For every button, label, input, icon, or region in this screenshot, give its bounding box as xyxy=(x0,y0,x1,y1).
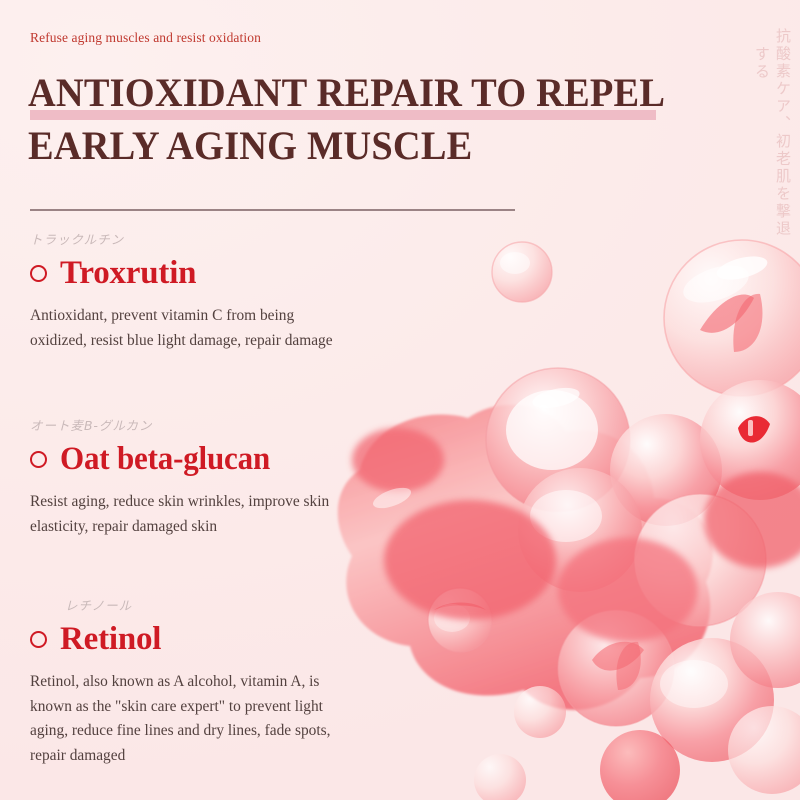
ingredient-heading-row: Retinol xyxy=(30,620,390,658)
content-column: Refuse aging muscles and resist oxidatio… xyxy=(0,0,700,800)
ingredient-heading-row: Troxrutin xyxy=(30,254,390,292)
ingredient-heading-row: Oat beta-glucan xyxy=(30,440,390,478)
ingredient-kana-label: オート麦B-グルカン xyxy=(30,418,390,434)
vertical-japanese-caption: する 抗酸素ケア、初老肌を撃退 xyxy=(752,28,792,238)
headline-line-2: EARLY AGING MUSCLE xyxy=(28,119,662,172)
eyebrow-tagline: Refuse aging muscles and resist oxidatio… xyxy=(30,30,261,46)
ingredient-name: Oat beta-glucan xyxy=(60,440,270,478)
ingredient-block-oat-beta-glucan: オート麦B-グルカン Oat beta-glucan Resist aging,… xyxy=(30,418,390,539)
poster-canvas: する 抗酸素ケア、初老肌を撃退 Refuse aging muscles and… xyxy=(0,0,800,800)
circle-outline-icon xyxy=(30,451,47,468)
circle-outline-icon xyxy=(30,631,47,648)
circle-outline-icon xyxy=(30,265,47,282)
ingredient-block-troxrutin: トラックルチン Troxrutin Antioxidant, prevent v… xyxy=(30,232,390,353)
vertical-japanese-col-1: 抗酸素ケア、初老肌を撃退 xyxy=(773,28,792,238)
headline-line-1: ANTIOXIDANT REPAIR TO REPEL xyxy=(28,66,662,119)
vertical-japanese-col-2: する xyxy=(752,28,771,238)
ingredient-description: Resist aging, reduce skin wrinkles, impr… xyxy=(30,490,335,539)
ingredient-description: Antioxidant, prevent vitamin C from bein… xyxy=(30,304,335,353)
ingredient-kana-label: トラックルチン xyxy=(30,232,390,248)
ingredient-description: Retinol, also known as A alcohol, vitami… xyxy=(30,670,342,768)
ingredient-name: Troxrutin xyxy=(60,254,196,292)
ingredient-block-retinol: レチノール Retinol Retinol, also known as A a… xyxy=(30,598,390,768)
ingredient-kana-label: レチノール xyxy=(30,598,390,614)
red-accent-droplet xyxy=(738,416,770,442)
section-divider xyxy=(30,209,515,211)
ingredient-name: Retinol xyxy=(60,620,161,658)
